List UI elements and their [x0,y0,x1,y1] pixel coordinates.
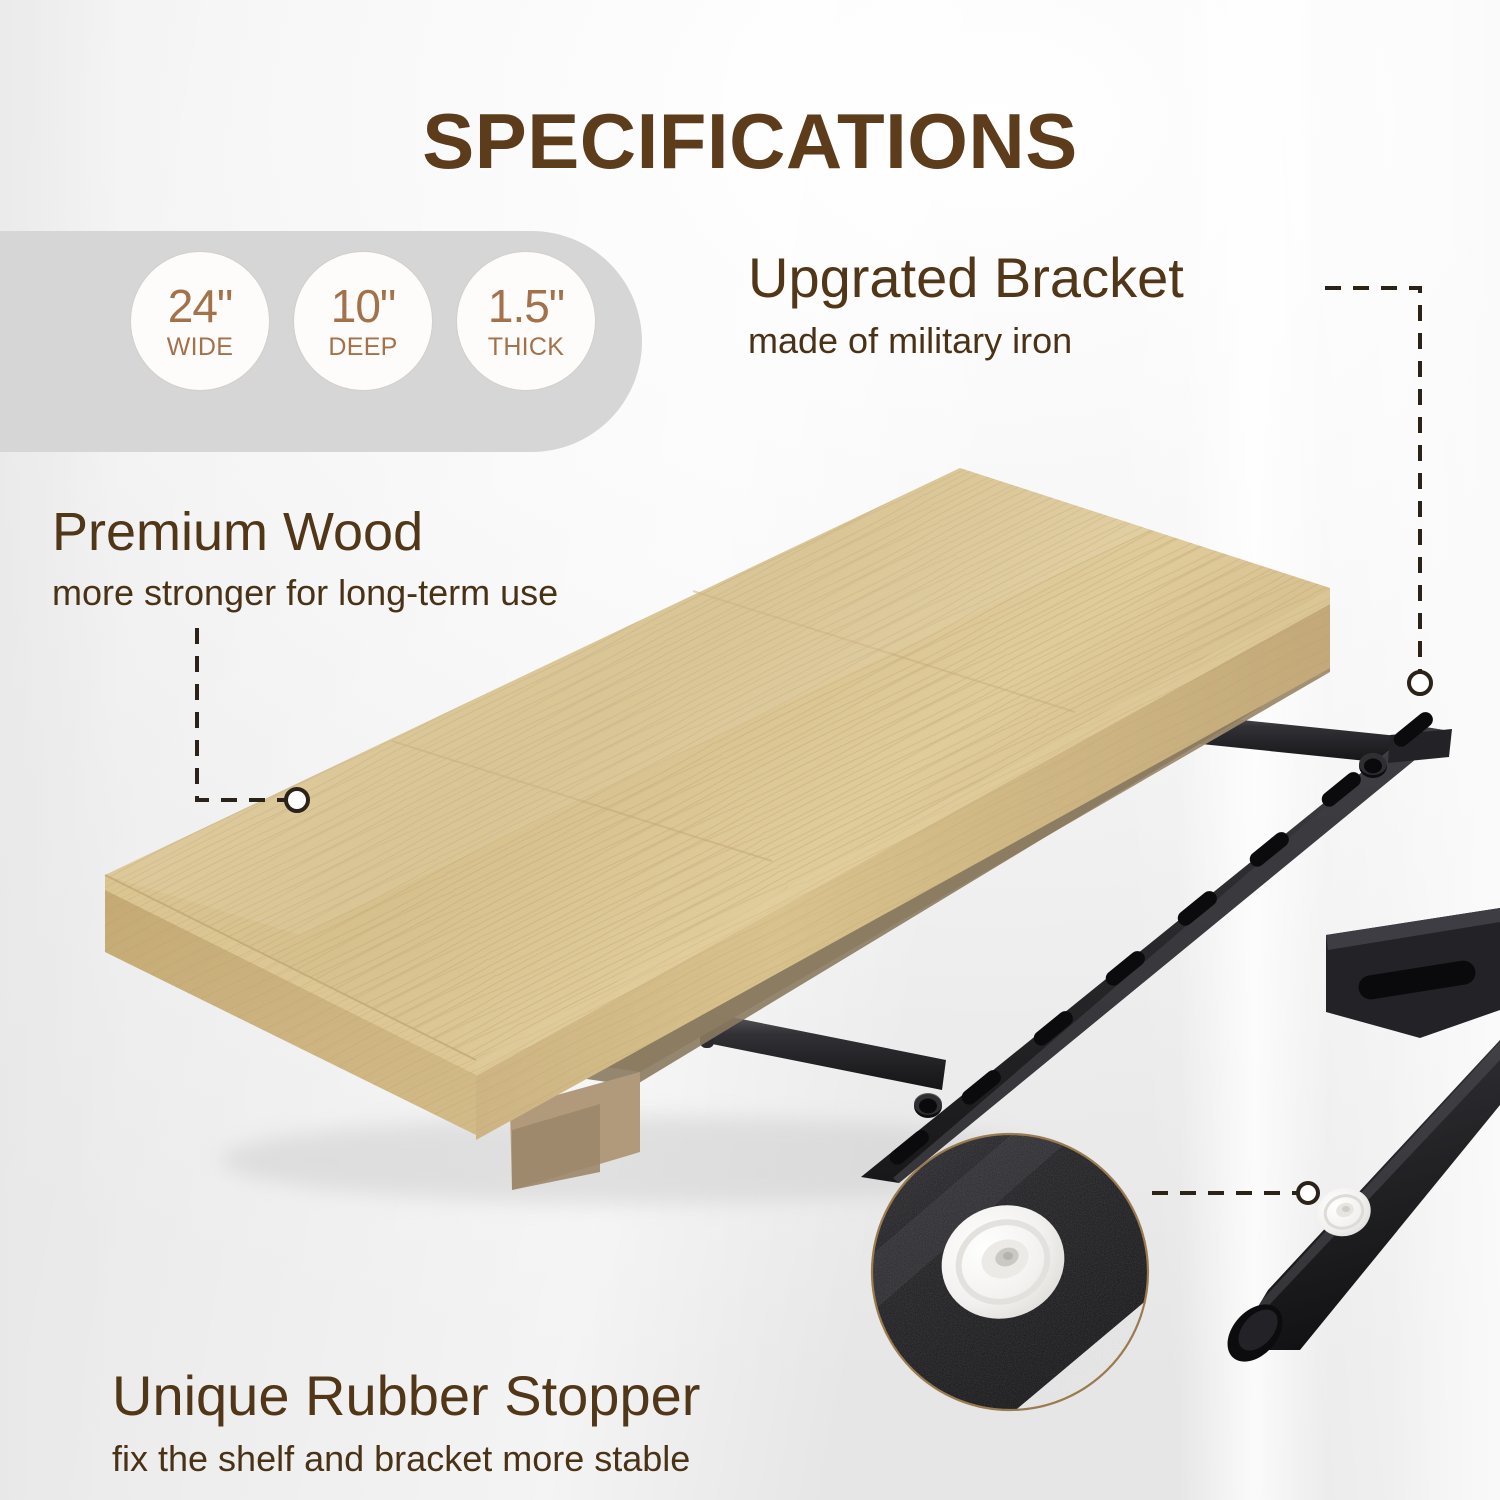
spec-badge-thickness-unit: THICK [488,335,565,360]
infographic-canvas: SPECIFICATIONS 24" WIDE 10" DEEP 1.5" TH… [0,0,1500,1500]
spec-badge-width-unit: WIDE [167,335,233,360]
callout-stopper: Unique Rubber Stopper fix the shelf and … [112,1368,700,1477]
spec-badge-width: 24" WIDE [130,251,270,391]
spec-badge-depth-value: 10" [331,283,396,329]
spec-badge-width-value: 24" [168,283,233,329]
callout-stopper-title: Unique Rubber Stopper [112,1368,700,1424]
spec-badge-depth-unit: DEEP [328,335,397,360]
spec-badge-thickness: 1.5" THICK [456,251,596,391]
page-title: SPECIFICATIONS [0,96,1500,187]
callout-bracket: Upgrated Bracket made of military iron [748,250,1184,359]
callout-bracket-title: Upgrated Bracket [748,250,1184,306]
spec-badge-thickness-value: 1.5" [488,283,564,329]
callout-stopper-subtitle: fix the shelf and bracket more stable [112,1441,700,1477]
callout-wood: Premium Wood more stronger for long-term… [52,505,558,611]
spec-badge-depth: 10" DEEP [293,251,433,391]
callout-bracket-subtitle: made of military iron [748,323,1184,359]
spec-badge-group: 24" WIDE 10" DEEP 1.5" THICK [130,251,596,391]
callout-wood-subtitle: more stronger for long-term use [52,575,558,611]
background-gradient [0,0,1500,1500]
callout-wood-title: Premium Wood [52,505,558,559]
